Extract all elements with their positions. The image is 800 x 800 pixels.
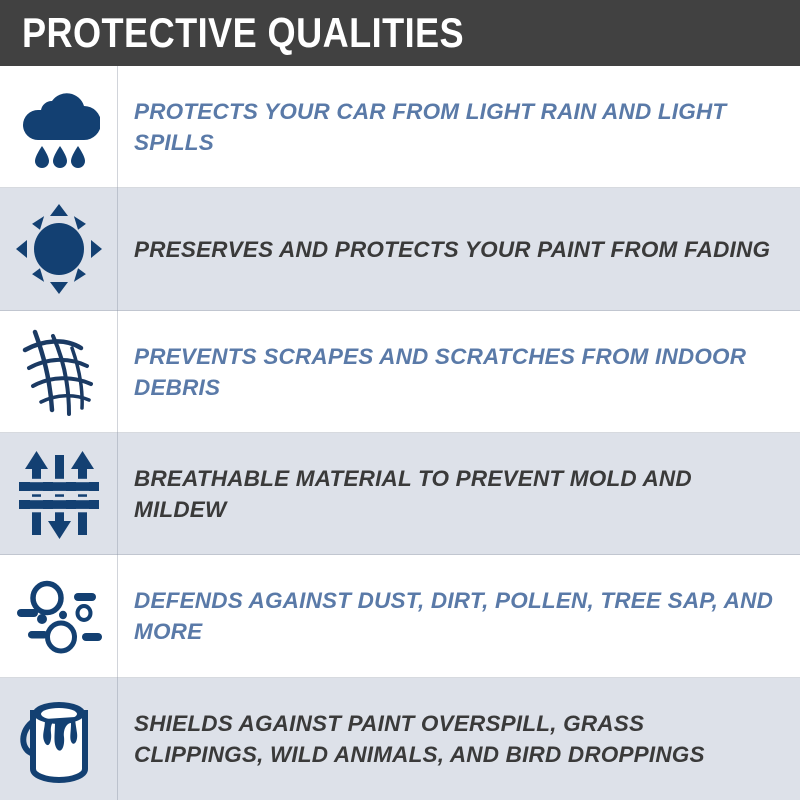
page-title: PROTECTIVE QUALITIES — [22, 12, 464, 54]
feature-text: BREATHABLE MATERIAL TO PREVENT MOLD AND … — [134, 463, 774, 525]
protective-qualities-infographic: PROTECTIVE QUALITIES PROTECTS YOUR CAR F… — [0, 0, 800, 800]
scratch-mesh-icon — [17, 326, 101, 418]
feature-row-rain: PROTECTS YOUR CAR FROM LIGHT RAIN AND LI… — [0, 66, 800, 188]
icon-cell — [0, 555, 118, 677]
icon-cell — [0, 66, 118, 188]
sun-icon — [16, 204, 102, 294]
feature-row-sun: PRESERVES AND PROTECTS YOUR PAINT FROM F… — [0, 188, 800, 310]
feature-text: PREVENTS SCRAPES AND SCRATCHES FROM INDO… — [134, 341, 774, 403]
icon-cell — [0, 678, 118, 800]
feature-text: PRESERVES AND PROTECTS YOUR PAINT FROM F… — [134, 234, 770, 265]
text-cell: PREVENTS SCRAPES AND SCRATCHES FROM INDO… — [118, 311, 800, 433]
feature-row-scratches: PREVENTS SCRAPES AND SCRATCHES FROM INDO… — [0, 311, 800, 433]
text-cell: SHIELDS AGAINST PAINT OVERSPILL, GRASS C… — [118, 678, 800, 800]
text-cell: DEFENDS AGAINST DUST, DIRT, POLLEN, TREE… — [118, 555, 800, 677]
text-cell: PRESERVES AND PROTECTS YOUR PAINT FROM F… — [118, 188, 800, 310]
feature-text: SHIELDS AGAINST PAINT OVERSPILL, GRASS C… — [134, 708, 774, 770]
icon-cell — [0, 311, 118, 433]
feature-row-breathable: BREATHABLE MATERIAL TO PREVENT MOLD AND … — [0, 433, 800, 555]
text-cell: PROTECTS YOUR CAR FROM LIGHT RAIN AND LI… — [118, 66, 800, 188]
dust-particles-icon — [14, 573, 104, 659]
feature-list: PROTECTS YOUR CAR FROM LIGHT RAIN AND LI… — [0, 66, 800, 800]
feature-text: DEFENDS AGAINST DUST, DIRT, POLLEN, TREE… — [134, 585, 774, 647]
feature-row-dust: DEFENDS AGAINST DUST, DIRT, POLLEN, TREE… — [0, 555, 800, 677]
breathable-arrows-icon — [17, 449, 101, 539]
header-bar: PROTECTIVE QUALITIES — [0, 0, 800, 66]
feature-row-paint: SHIELDS AGAINST PAINT OVERSPILL, GRASS C… — [0, 678, 800, 800]
rain-cloud-icon — [18, 84, 100, 170]
icon-cell — [0, 433, 118, 555]
feature-text: PROTECTS YOUR CAR FROM LIGHT RAIN AND LI… — [134, 96, 774, 158]
icon-cell — [0, 188, 118, 310]
text-cell: BREATHABLE MATERIAL TO PREVENT MOLD AND … — [118, 433, 800, 555]
paint-can-icon — [15, 691, 103, 787]
